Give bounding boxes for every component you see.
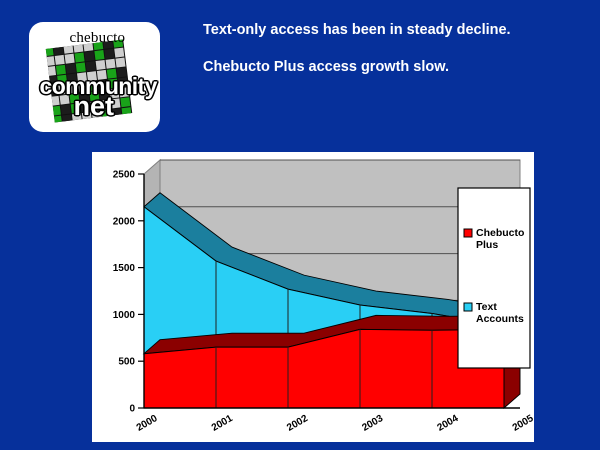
logo-tile [104, 49, 114, 59]
y-axis-tick-labels: 05001000150020002500 [113, 170, 144, 415]
y-axis-tick-label: 2500 [113, 170, 136, 181]
logo-tile [53, 45, 63, 55]
chart-panel: 05001000150020002500 2000200120022003200… [92, 152, 534, 442]
logo-tile [52, 116, 62, 123]
x-axis-category-label: 2002 [285, 413, 310, 434]
headline-line-2: Chebucto Plus access growth slow. [203, 59, 573, 76]
legend-swatch-1[interactable] [464, 229, 472, 237]
logo-card: chebucto community net [29, 22, 160, 132]
logo-tile [121, 107, 131, 117]
headline-line-1: Text-only access has been in steady decl… [203, 22, 573, 39]
x-axis-category-label: 2000 [135, 413, 160, 434]
y-axis-tick-label: 1500 [113, 263, 136, 274]
stacked-area-chart: 05001000150020002500 2000200120022003200… [92, 152, 534, 442]
y-axis-tick-label: 1000 [113, 310, 136, 321]
logo-tile [45, 46, 53, 56]
logo-text-net: net [74, 91, 115, 122]
y-axis-tick-label: 0 [129, 404, 135, 415]
logo-tile [50, 106, 60, 116]
logo-text-chebucto: chebucto [70, 30, 126, 47]
headline-block: Text-only access has been in steady decl… [203, 22, 573, 97]
logo-tile [64, 54, 74, 64]
logo-tile [105, 59, 115, 69]
x-axis-category-label: 2003 [360, 413, 385, 434]
x-axis-category-label: 2005 [511, 413, 534, 434]
x-axis-category-label: 2001 [210, 413, 235, 434]
logo-tile [45, 56, 54, 66]
logo-tile [94, 50, 104, 60]
logo-tile [54, 55, 64, 65]
slide-canvas: chebucto community net Text-only access … [0, 0, 600, 450]
logo-tile [114, 48, 124, 58]
legend-label-1[interactable]: Plus [476, 239, 498, 251]
logo-tile [60, 105, 70, 115]
x-axis-category-label: 2004 [436, 413, 461, 434]
y-axis-tick-label: 2000 [113, 216, 136, 227]
logo-tile [115, 58, 125, 68]
logo-tile [95, 60, 105, 70]
legend-swatch-2[interactable] [464, 303, 472, 311]
logo-tile [62, 114, 72, 122]
logo-artwork: chebucto community net [36, 29, 154, 125]
logo-tile [74, 52, 84, 62]
legend-label-1[interactable]: Chebucto [476, 227, 524, 239]
legend-label-2[interactable]: Text [476, 301, 497, 313]
legend-label-2[interactable]: Accounts [476, 313, 524, 325]
logo-tile [84, 51, 94, 61]
x-axis-category-labels: 200020012002200320042005 [135, 413, 534, 434]
chart-legend: ChebuctoPlusTextAccounts [458, 188, 530, 368]
legend-box [458, 188, 530, 368]
logo-tile [85, 61, 95, 71]
y-axis-tick-label: 500 [118, 357, 135, 368]
logo-tile [75, 62, 85, 72]
